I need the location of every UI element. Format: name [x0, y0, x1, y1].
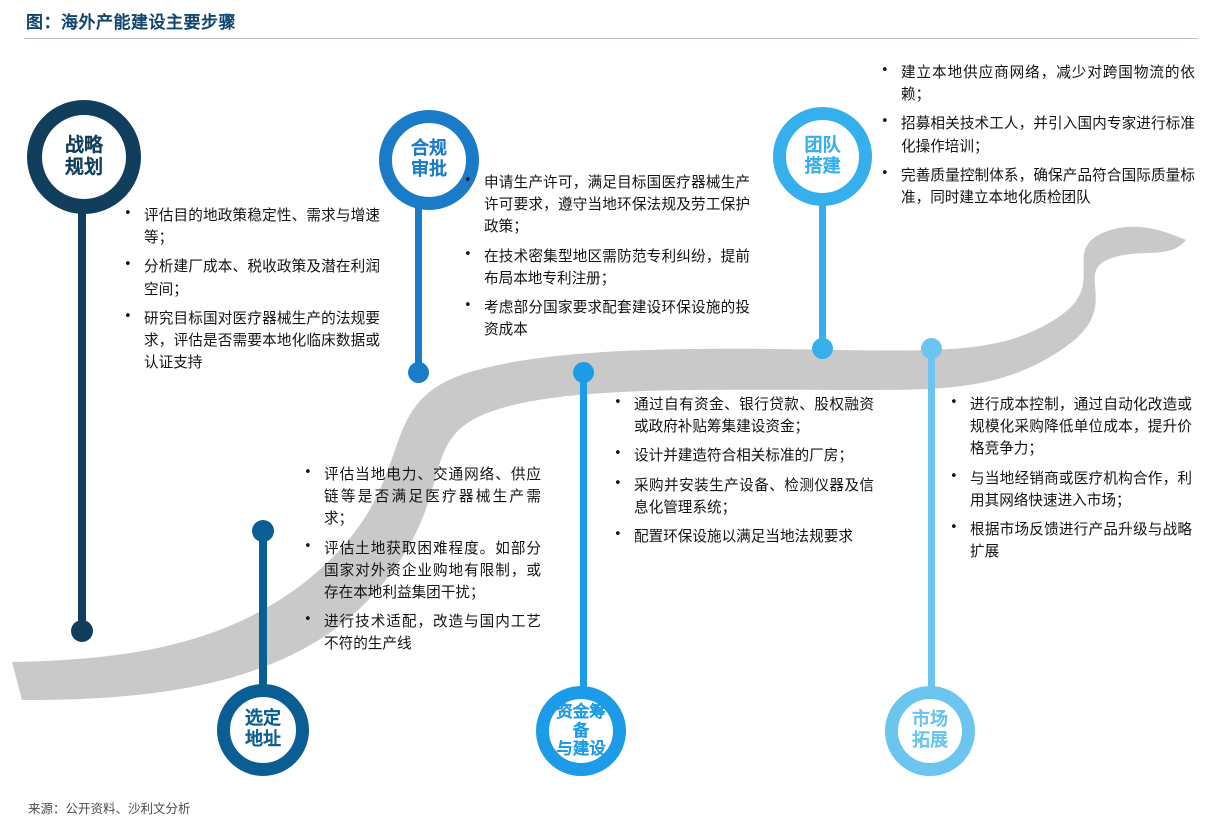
pin-dot: [252, 520, 274, 542]
bullet-item: 分析建厂成本、税收政策及潜在利润空间；: [118, 256, 380, 300]
node-label: 市场 拓展: [912, 710, 948, 751]
bullet-item: 进行技术适配，改造与国内工艺不符的生产线: [298, 611, 541, 655]
node-label: 战略 规划: [65, 135, 103, 178]
bullet-item: 考虑部分国家要求配套建设环保设施的投资成本: [458, 297, 750, 341]
bullets-compliance-approval: 申请生产许可，满足目标国医疗器械生产许可要求，遵守当地环保法规及劳工保护政策； …: [458, 172, 750, 341]
bullet-item: 研究目标国对医疗器械生产的法规要求，评估是否需要本地化临床数据或认证支持: [118, 308, 380, 375]
node-team-building[interactable]: 团队 搭建: [773, 107, 872, 206]
page-title: 图：海外产能建设主要步骤: [26, 8, 236, 33]
node-funding-construction[interactable]: 资金筹备 与建设: [536, 686, 626, 776]
pin-dot: [71, 620, 93, 642]
diagram-canvas: 图：海外产能建设主要步骤 战略 规划 评估目的地政策稳定性、需求与增速等； 分析…: [0, 0, 1218, 825]
bullet-item: 完善质量控制体系，确保产品符合国际质量标准，同时建立本地化质检团队: [875, 165, 1195, 209]
bullet-item: 建立本地供应商网络，减少对跨国物流的依赖；: [875, 62, 1195, 106]
node-strategy-planning[interactable]: 战略 规划: [27, 100, 141, 214]
bullet-item: 通过自有资金、银行贷款、股权融资或政府补贴筹集建设资金；: [608, 394, 874, 438]
pin-stem: [415, 205, 422, 375]
bullets-site-selection: 评估当地电力、交通网络、供应链等是否满足医疗器械生产需求； 评估土地获取困难程度…: [298, 464, 541, 655]
pin-stem: [819, 200, 826, 350]
bullets-strategy-planning: 评估目的地政策稳定性、需求与增速等； 分析建厂成本、税收政策及潜在利润空间； 研…: [118, 205, 380, 374]
pin-stem: [259, 528, 267, 688]
node-label: 合规 审批: [411, 139, 447, 180]
bullets-team-building: 建立本地供应商网络，减少对跨国物流的依赖； 招募相关技术工人，并引入国内专家进行…: [875, 62, 1195, 209]
bullet-item: 在技术密集型地区需防范专利纠纷，提前布局本地专利注册；: [458, 246, 750, 290]
node-label: 选定 地址: [245, 709, 281, 750]
bullet-item: 评估目的地政策稳定性、需求与增速等；: [118, 205, 380, 249]
node-site-selection[interactable]: 选定 地址: [217, 684, 309, 776]
pin-dot: [812, 338, 833, 359]
pin-dot: [573, 362, 594, 383]
bullet-item: 评估土地获取困难程度。如部分国家对外资企业购地有限制，或存在本地利益集团干扰；: [298, 538, 541, 605]
bullet-item: 评估当地电力、交通网络、供应链等是否满足医疗器械生产需求；: [298, 464, 541, 531]
node-label: 资金筹备 与建设: [549, 703, 613, 759]
node-label: 团队 搭建: [805, 136, 841, 177]
bullet-item: 申请生产许可，满足目标国医疗器械生产许可要求，遵守当地环保法规及劳工保护政策；: [458, 172, 750, 239]
bullet-item: 配置环保设施以满足当地法规要求: [608, 526, 874, 548]
pin-dot: [408, 362, 429, 383]
bullets-funding-construction: 通过自有资金、银行贷款、股权融资或政府补贴筹集建设资金； 设计并建造符合相关标准…: [608, 394, 874, 548]
bullet-item: 招募相关技术工人，并引入国内专家进行标准化操作培训；: [875, 113, 1195, 157]
node-market-expansion[interactable]: 市场 拓展: [885, 686, 975, 776]
pin-stem: [928, 348, 935, 692]
pin-dot: [921, 338, 942, 359]
source-note: 来源：公开资料、沙利文分析: [28, 798, 191, 817]
bullet-item: 与当地经销商或医疗机构合作，利用其网络快速进入市场；: [944, 468, 1192, 512]
pin-stem: [78, 185, 86, 635]
title-divider: [24, 38, 1198, 39]
pin-stem: [580, 372, 587, 690]
bullet-item: 采购并安装生产设备、检测仪器及信息化管理系统；: [608, 475, 874, 519]
bullet-item: 根据市场反馈进行产品升级与战略扩展: [944, 519, 1192, 563]
bullet-item: 进行成本控制，通过自动化改造或规模化采购降低单位成本，提升价格竞争力；: [944, 394, 1192, 461]
bullet-item: 设计并建造符合相关标准的厂房；: [608, 445, 874, 467]
bullets-market-expansion: 进行成本控制，通过自动化改造或规模化采购降低单位成本，提升价格竞争力； 与当地经…: [944, 394, 1192, 563]
